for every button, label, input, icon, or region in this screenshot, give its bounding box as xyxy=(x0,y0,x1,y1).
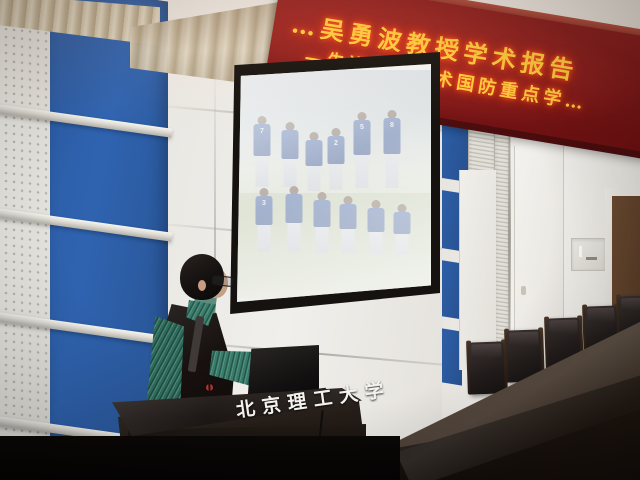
panel-slot xyxy=(586,257,597,260)
player-jersey xyxy=(340,204,357,229)
projected-player xyxy=(279,122,301,186)
perforated-acoustic-panel xyxy=(0,0,52,480)
projected-player xyxy=(365,200,387,252)
projected-player xyxy=(303,132,325,188)
player-legs xyxy=(256,156,269,187)
player-legs xyxy=(342,229,355,253)
player-legs xyxy=(258,225,271,252)
player-legs xyxy=(284,159,297,187)
player-legs xyxy=(396,234,409,255)
projected-player: 5 xyxy=(351,112,373,188)
projected-player: 8 xyxy=(381,110,403,188)
player-number: 2 xyxy=(334,140,338,147)
projected-player: 2 xyxy=(325,128,347,188)
glasses-icon xyxy=(212,275,234,287)
conference-chair[interactable] xyxy=(469,341,505,394)
speaker-ear xyxy=(198,280,206,291)
door-handle[interactable] xyxy=(521,286,526,295)
player-jersey xyxy=(394,212,411,234)
player-legs xyxy=(356,155,369,188)
wall-control-panel[interactable] xyxy=(571,238,606,271)
chair-headrest xyxy=(471,344,501,359)
lecture-hall-photo: …吴勇波教授学术报告 —先进加工技术国防重点学… 7258 3 xyxy=(0,0,640,480)
projected-player: 3 xyxy=(253,188,275,250)
projected-player xyxy=(391,204,413,252)
player-jersey xyxy=(282,130,299,159)
player-legs xyxy=(288,223,301,251)
player-jersey xyxy=(368,208,385,232)
player-legs xyxy=(308,166,321,191)
player-jersey xyxy=(306,140,323,166)
player-legs xyxy=(370,232,383,255)
player-number: 3 xyxy=(262,200,266,207)
player-jersey xyxy=(314,200,331,227)
player-number: 5 xyxy=(360,124,364,131)
panel-indicator xyxy=(579,246,582,257)
player-legs xyxy=(386,154,399,188)
chair-headrest xyxy=(621,298,640,312)
projected-player xyxy=(311,192,333,250)
player-jersey xyxy=(286,194,303,223)
player-legs xyxy=(330,164,343,190)
chair-headrest xyxy=(587,308,615,322)
projected-player xyxy=(283,186,305,250)
right-wall-panel xyxy=(459,170,496,370)
floor-shadow xyxy=(0,436,400,480)
chair-headrest xyxy=(509,332,538,347)
player-legs xyxy=(316,227,329,253)
player-number: 7 xyxy=(260,128,264,135)
projected-player: 7 xyxy=(251,116,273,186)
chair-headrest xyxy=(549,320,578,334)
projected-player xyxy=(337,196,359,250)
player-number: 8 xyxy=(390,122,394,129)
